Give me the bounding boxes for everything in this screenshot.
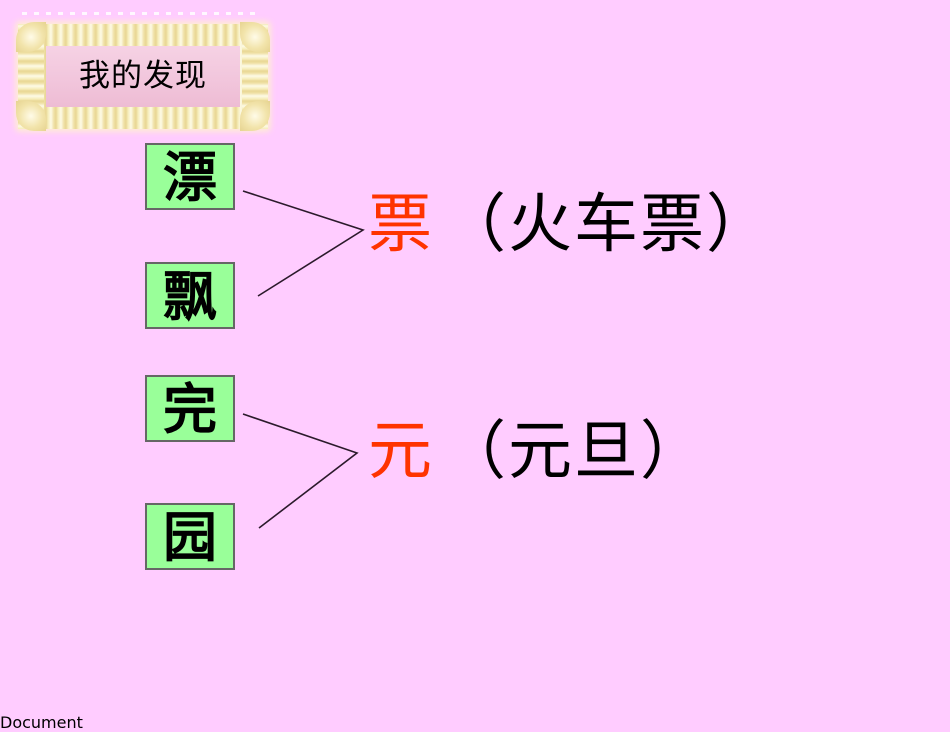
plaque-inner-panel: 我的发现 — [46, 46, 240, 107]
connector-line-group-piao — [243, 191, 363, 296]
slide-canvas: 我的发现 漂 飘 完 园 票（火车票） 元（元旦） — [0, 0, 950, 713]
connector-line-group-yuan — [243, 414, 357, 528]
title-plaque: 我的发现 — [18, 24, 268, 129]
character-tile-piao-float[interactable]: 漂 — [145, 143, 235, 210]
result-key-character: 元 — [368, 415, 432, 489]
result-example-word: （元旦） — [442, 415, 706, 489]
character-glyph: 园 — [163, 510, 217, 564]
character-glyph: 完 — [163, 382, 217, 436]
character-glyph: 飘 — [163, 269, 217, 323]
result-phrase-yuan: 元（元旦） — [368, 420, 706, 484]
result-example-word: （火车票） — [442, 188, 772, 262]
result-key-character: 票 — [368, 188, 432, 262]
character-tile-wan[interactable]: 完 — [145, 375, 235, 442]
plaque-highlight-top — [22, 12, 262, 15]
result-phrase-piao: 票（火车票） — [368, 193, 772, 257]
character-glyph: 漂 — [163, 150, 217, 204]
page-title: 我的发现 — [79, 61, 207, 92]
character-tile-piao-flutter[interactable]: 飘 — [145, 262, 235, 329]
character-tile-yuan-garden[interactable]: 园 — [145, 503, 235, 570]
